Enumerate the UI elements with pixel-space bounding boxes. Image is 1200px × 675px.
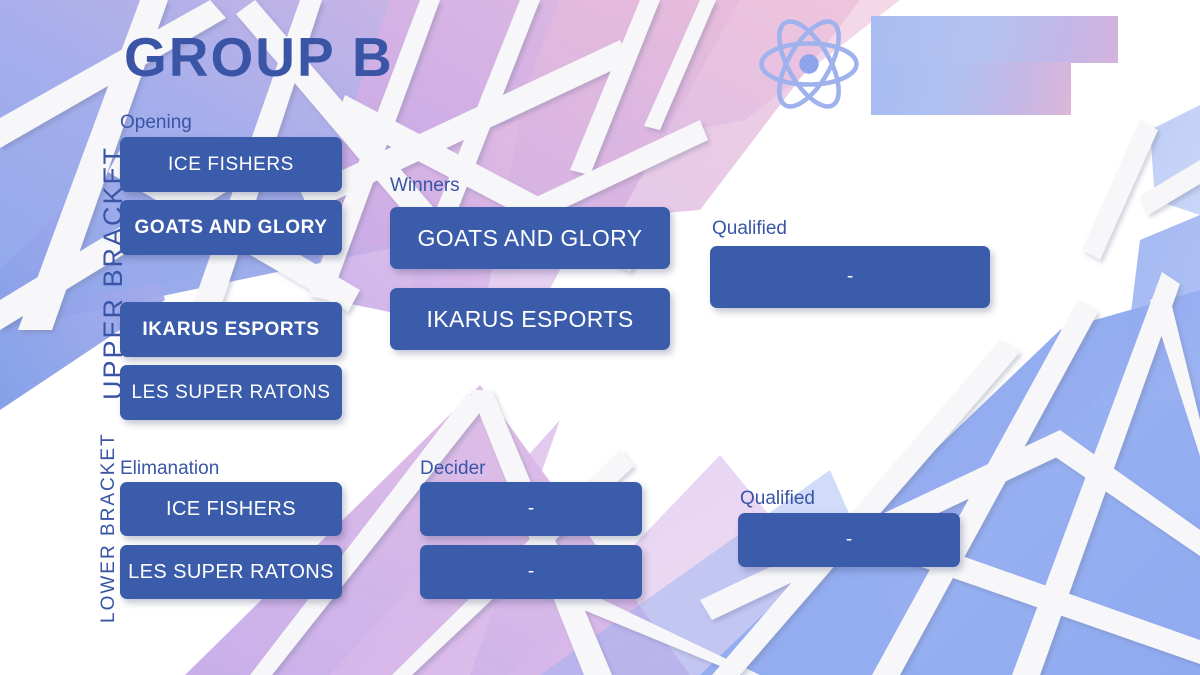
lower-bracket-label: LOWER BRACKET xyxy=(98,432,120,623)
atom-icon xyxy=(755,10,863,118)
round-label-qualified-lower: Qualified xyxy=(740,488,815,510)
round-label-decider: Decider xyxy=(420,458,485,480)
team-box-upper-opening-m1-t2[interactable]: GOATS AND GLORY xyxy=(120,200,342,255)
team-box-lower-decider-t1[interactable]: - xyxy=(420,482,642,536)
logo-wordmark: QUANTUM SERIES xyxy=(869,12,1179,116)
team-box-upper-qualified[interactable]: - xyxy=(710,246,990,308)
team-box-upper-opening-m2-t2[interactable]: LES SUPER RATONS xyxy=(120,365,342,420)
logo-line-series: SERIES xyxy=(871,62,1071,115)
team-box-upper-winners-t1[interactable]: GOATS AND GLORY xyxy=(390,207,670,269)
team-box-lower-elim-t1[interactable]: ICE FISHERS xyxy=(120,482,342,536)
team-box-lower-decider-t2[interactable]: - xyxy=(420,545,642,599)
logo-line-quantum: QUANTUM xyxy=(871,16,1118,63)
brand-logo: QUANTUM SERIES xyxy=(755,4,1195,124)
round-label-qualified-upper: Qualified xyxy=(712,218,787,240)
team-box-lower-qualified[interactable]: - xyxy=(738,513,960,567)
team-box-lower-elim-t2[interactable]: LES SUPER RATONS xyxy=(120,545,342,599)
round-label-winners: Winners xyxy=(390,175,460,197)
bracket-slide: QUANTUM SERIES GROUP B UPPER BRACKET LOW… xyxy=(0,0,1200,675)
round-label-opening: Opening xyxy=(120,112,192,134)
team-box-upper-opening-m2-t1[interactable]: IKARUS ESPORTS xyxy=(120,302,342,357)
team-box-upper-opening-m1-t1[interactable]: ICE FISHERS xyxy=(120,137,342,192)
page-title: GROUP B xyxy=(124,25,394,89)
team-box-upper-winners-t2[interactable]: IKARUS ESPORTS xyxy=(390,288,670,350)
round-label-elimination: Elimanation xyxy=(120,458,219,480)
